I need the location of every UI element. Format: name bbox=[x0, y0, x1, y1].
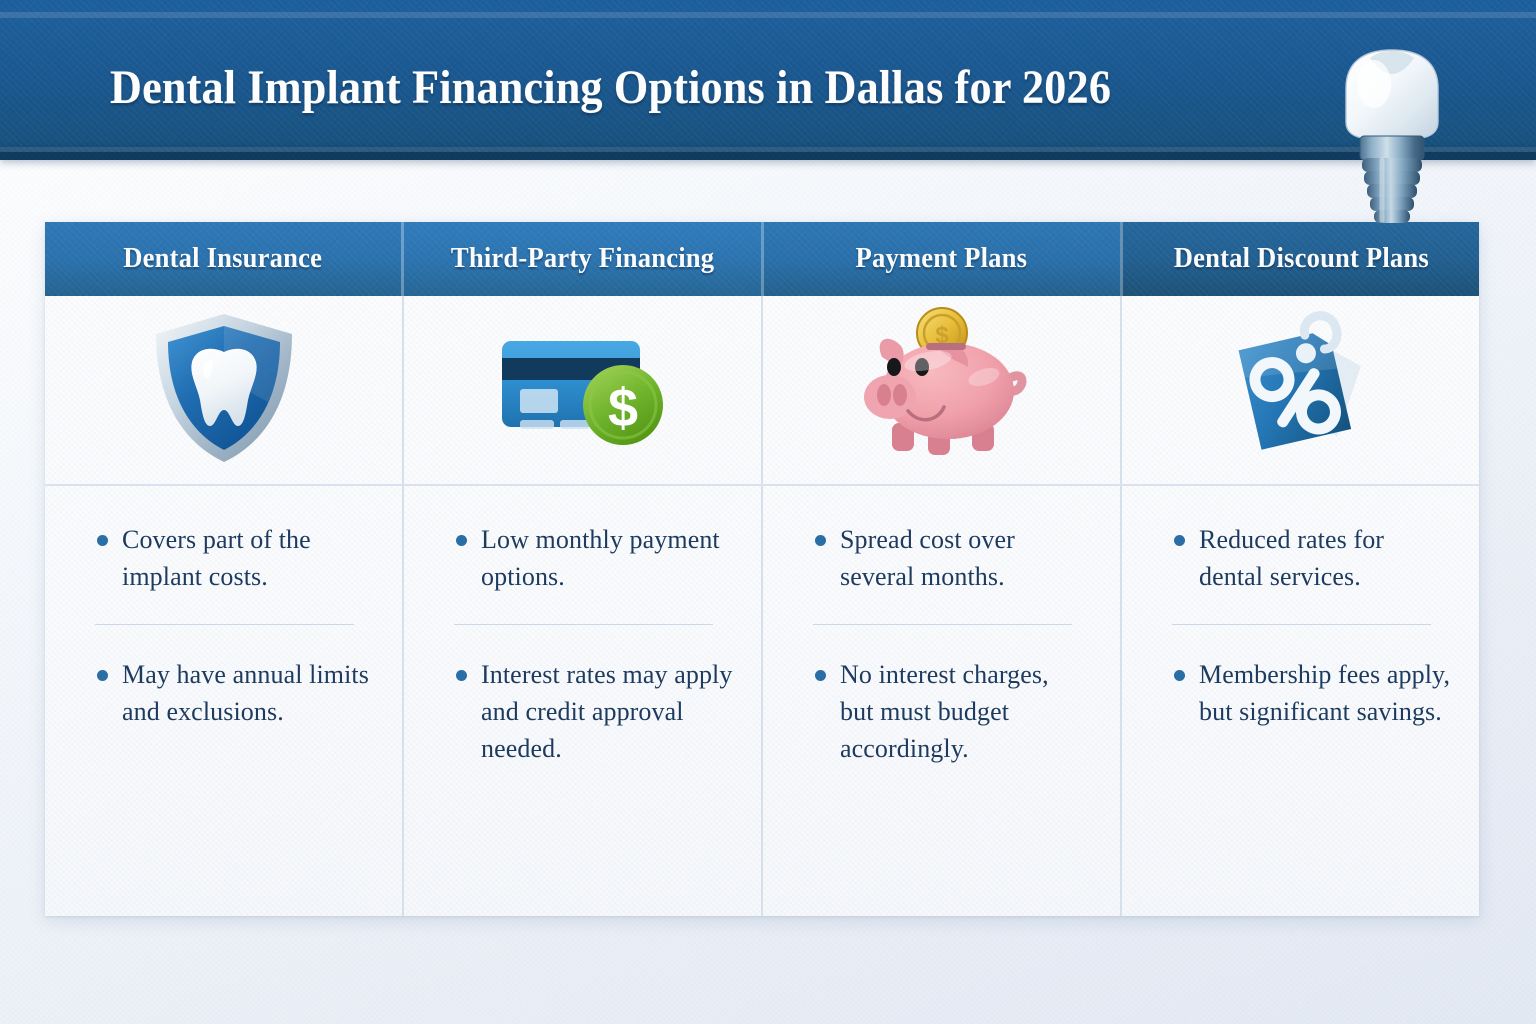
bullet-dot-icon bbox=[1174, 670, 1185, 681]
piggy-bank-coin-icon: $ bbox=[844, 305, 1039, 475]
icon-cell-dental-insurance bbox=[45, 296, 402, 484]
bullet-text: Reduced rates for dental services. bbox=[1199, 522, 1384, 596]
table-icon-row: $ bbox=[45, 296, 1479, 486]
icon-cell-payment-plans: $ bbox=[761, 296, 1120, 484]
list-item: Interest rates may apply and credit appr… bbox=[430, 649, 735, 774]
bullet-text: May have annual limits and exclusions. bbox=[122, 657, 369, 731]
list-item: May have annual limits and exclusions. bbox=[71, 649, 376, 737]
shield-tooth-icon bbox=[148, 308, 300, 473]
bullet-dot-icon bbox=[97, 670, 108, 681]
column-header-label: Payment Plans bbox=[856, 243, 1028, 275]
dental-implant-icon bbox=[1330, 44, 1454, 234]
column-header-payment-plans[interactable]: Payment Plans bbox=[761, 222, 1120, 296]
icon-cell-dental-discount-plans bbox=[1120, 296, 1479, 484]
bullet-text: No interest charges, but must budget acc… bbox=[840, 657, 1094, 768]
list-item: Low monthly payment options. bbox=[430, 514, 735, 602]
bullet-text: Covers part of the implant costs. bbox=[122, 522, 311, 596]
table-header-row: Dental Insurance Third-Party Financing P… bbox=[45, 222, 1479, 296]
list-item: Spread cost over several months. bbox=[789, 514, 1094, 602]
bullet-dot-icon bbox=[456, 535, 467, 546]
svg-text:$: $ bbox=[608, 378, 638, 438]
body-cell-payment-plans: Spread cost over several months. No inte… bbox=[761, 486, 1120, 916]
body-cell-third-party-financing: Low monthly payment options. Interest ra… bbox=[402, 486, 761, 916]
banner-bottom-line bbox=[0, 152, 1536, 160]
list-item: No interest charges, but must budget acc… bbox=[789, 649, 1094, 774]
bullet-text: Low monthly payment options. bbox=[481, 522, 720, 596]
header-banner: Dental Implant Financing Options in Dall… bbox=[0, 0, 1536, 160]
bullet-text: Membership fees apply, but significant s… bbox=[1199, 657, 1450, 731]
list-item: Covers part of the implant costs. bbox=[71, 514, 376, 602]
column-header-label: Dental Insurance bbox=[124, 243, 323, 275]
bullet-dot-icon bbox=[815, 535, 826, 546]
bullet-dot-icon bbox=[97, 535, 108, 546]
bullet-text: Interest rates may apply and credit appr… bbox=[481, 657, 735, 768]
bullet-separator bbox=[95, 624, 354, 625]
list-item: Reduced rates for dental services. bbox=[1148, 514, 1453, 602]
column-header-label: Third-Party Financing bbox=[451, 243, 714, 275]
column-header-dental-insurance[interactable]: Dental Insurance bbox=[45, 222, 401, 296]
bullet-separator bbox=[813, 624, 1072, 625]
bullet-text: Spread cost over several months. bbox=[840, 522, 1015, 596]
bullet-dot-icon bbox=[815, 670, 826, 681]
bullet-dot-icon bbox=[1174, 535, 1185, 546]
infographic-page: Dental Implant Financing Options in Dall… bbox=[0, 0, 1536, 1024]
bullet-separator bbox=[454, 624, 713, 625]
column-header-third-party-financing[interactable]: Third-Party Financing bbox=[401, 222, 760, 296]
bullet-separator bbox=[1172, 624, 1431, 625]
column-header-label: Dental Discount Plans bbox=[1173, 243, 1428, 275]
body-cell-dental-insurance: Covers part of the implant costs. May ha… bbox=[45, 486, 402, 916]
comparison-table: Dental Insurance Third-Party Financing P… bbox=[45, 222, 1479, 916]
icon-cell-third-party-financing: $ bbox=[402, 296, 761, 484]
list-item: Membership fees apply, but significant s… bbox=[1148, 649, 1453, 737]
body-cell-dental-discount-plans: Reduced rates for dental services. Membe… bbox=[1120, 486, 1479, 916]
percent-price-tag-icon bbox=[1213, 308, 1388, 473]
table-body-row: Covers part of the implant costs. May ha… bbox=[45, 486, 1479, 916]
page-title: Dental Implant Financing Options in Dall… bbox=[110, 60, 1111, 115]
bullet-dot-icon bbox=[456, 670, 467, 681]
credit-card-dollar-icon: $ bbox=[490, 325, 675, 455]
banner-top-stripe bbox=[0, 12, 1536, 18]
